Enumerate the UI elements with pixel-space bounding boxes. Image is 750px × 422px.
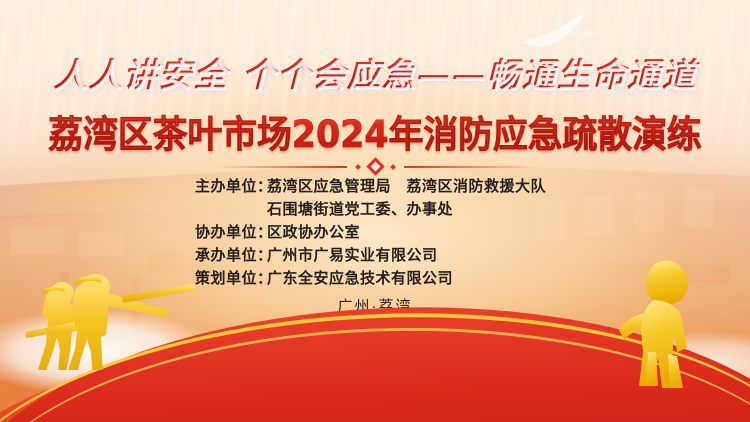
footer-place: 广州·荔湾 <box>0 295 750 318</box>
organizer-value: 广东全安应急技术有限公司 <box>267 268 585 289</box>
organizer-label: 策划单位 <box>165 268 257 289</box>
divider-dot-right <box>390 164 396 170</box>
divider-diamond-icon <box>366 157 384 175</box>
poster-slogan: 人人讲安全 个个会应急——畅通生命通道 <box>0 48 750 96</box>
organizer-value: 石围塘街道党工委、办事处 <box>267 199 585 220</box>
poster-footer: 广州·荔湾 2024年6月 <box>0 295 750 342</box>
organizer-label: 主办单位 <box>165 176 257 197</box>
divider-line-left <box>217 166 347 168</box>
organizer-value: 荔湾区应急管理局 荔湾区消防救援大队 <box>267 176 585 197</box>
divider-line-right <box>404 166 534 168</box>
organizer-label: 承办单位 <box>165 245 257 266</box>
organizer-colon: ： <box>257 245 267 266</box>
organizer-colon: ： <box>257 222 267 243</box>
footer-date: 2024年6月 <box>0 318 750 342</box>
poster-title: 荔湾区茶叶市场2024年消防应急疏散演练 <box>23 104 728 158</box>
organizer-colon: ： <box>257 268 267 289</box>
organizer-list: 主办单位 ： 荔湾区应急管理局 荔湾区消防救援大队 主办单位 ： 石围塘街道党工… <box>0 176 750 289</box>
organizer-row: 协办单位 ： 区政协办公室 <box>165 222 585 243</box>
organizer-label: 协办单位 <box>165 222 257 243</box>
poster-canvas: 人人讲安全 个个会应急——畅通生命通道 荔湾区茶叶市场2024年消防应急疏散演练… <box>0 0 750 422</box>
organizer-row: 主办单位 ： 石围塘街道党工委、办事处 <box>165 199 585 220</box>
organizer-colon: ： <box>257 176 267 197</box>
organizer-value: 广州市广易实业有限公司 <box>267 245 585 266</box>
organizer-row: 策划单位 ： 广东全安应急技术有限公司 <box>165 268 585 289</box>
divider-dot-left <box>355 164 361 170</box>
decorative-divider <box>0 160 750 173</box>
organizer-value: 区政协办公室 <box>267 222 585 243</box>
organizer-row: 主办单位 ： 荔湾区应急管理局 荔湾区消防救援大队 <box>165 176 585 197</box>
organizer-row: 承办单位 ： 广州市广易实业有限公司 <box>165 245 585 266</box>
